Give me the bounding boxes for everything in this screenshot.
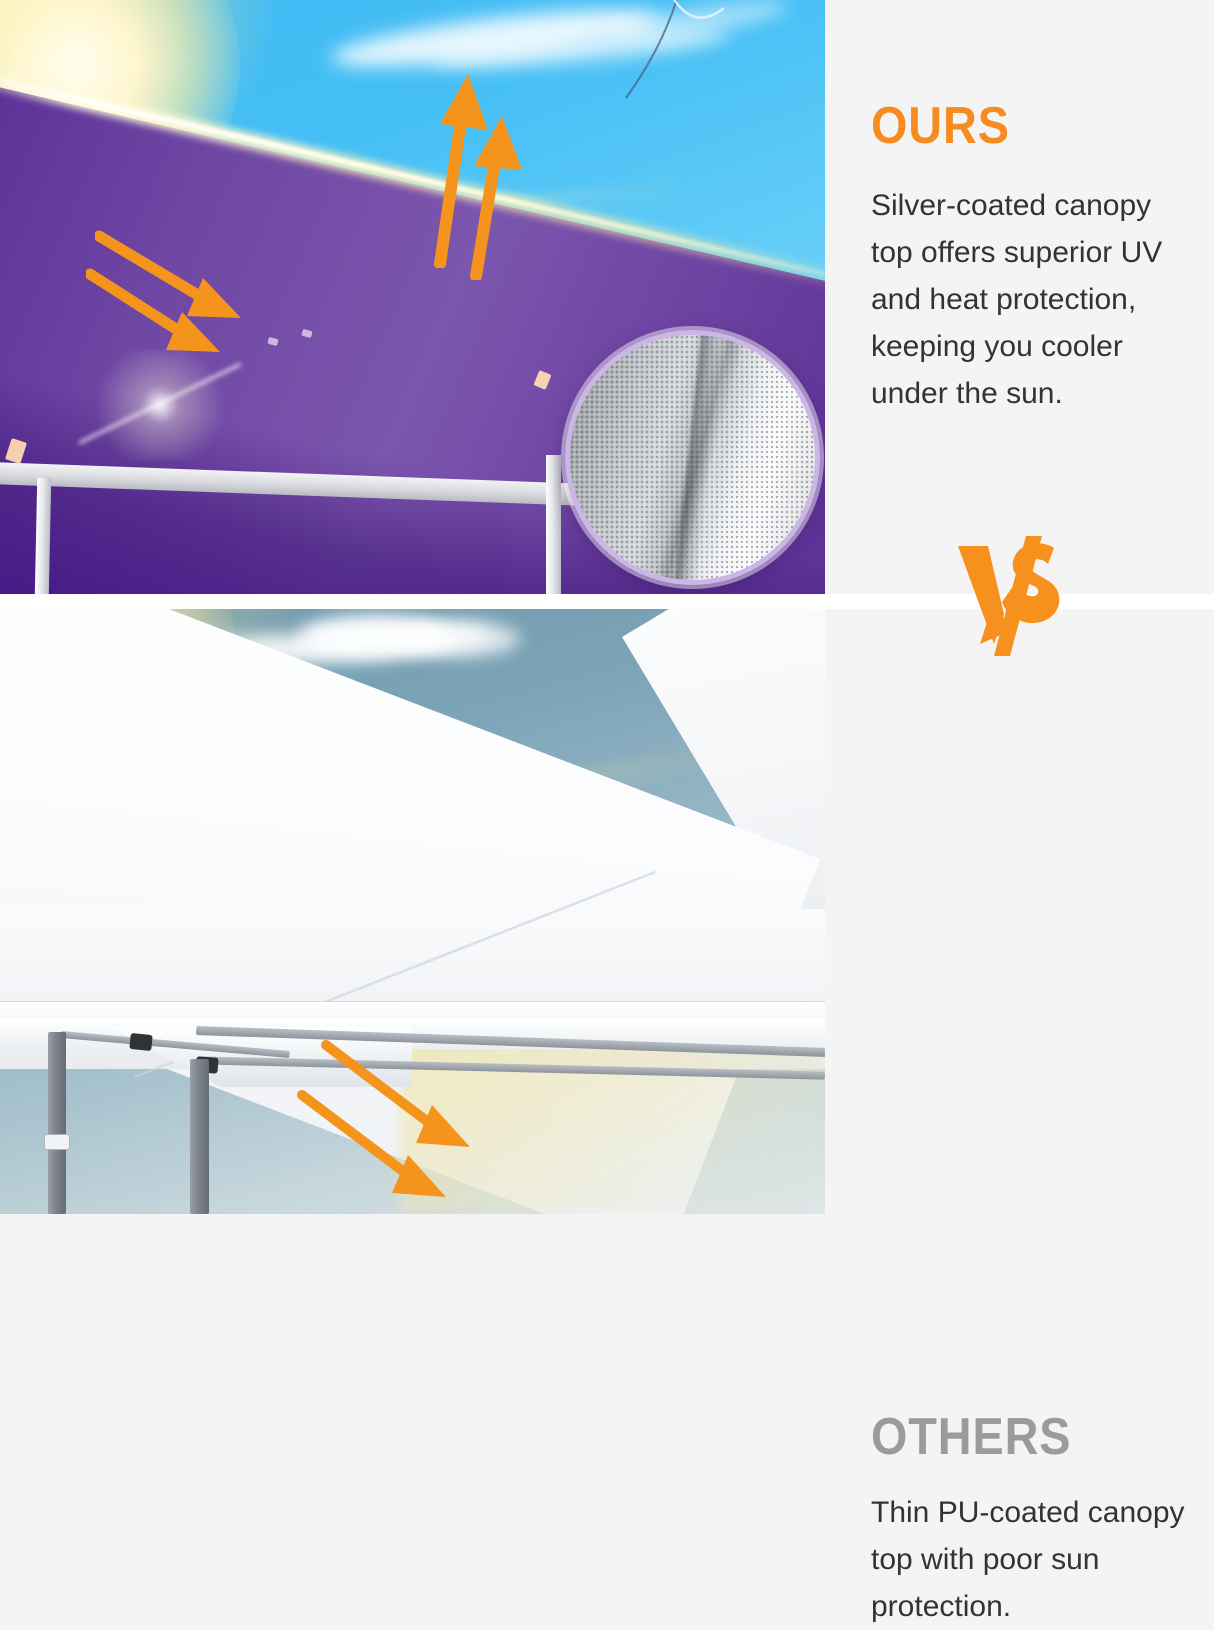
ridge-sparkle (70, 350, 250, 460)
comparison-infographic: OURS Silver-coated canopy top offers sup… (0, 0, 1214, 1214)
others-heading: OTHERS (871, 1411, 1071, 1463)
ours-text-panel: OURS Silver-coated canopy top offers sup… (825, 0, 1214, 594)
others-description: Thin PU-coated canopy top with poor sun … (871, 1489, 1191, 1630)
cloud (400, 621, 520, 657)
canopy-leg (190, 1059, 209, 1214)
canopy-leg (48, 1032, 66, 1214)
ours-photo (0, 0, 825, 594)
canopy-leg (35, 478, 52, 594)
others-text-panel: OTHERS Thin PU-coated canopy top with po… (825, 609, 1214, 1214)
ours-description: Silver-coated canopy top offers superior… (871, 182, 1191, 417)
silver-coating-detail-circle (565, 330, 820, 585)
leg-height-clip (44, 1134, 70, 1150)
ours-heading: OURS (871, 100, 1010, 152)
versus-badge-icon (950, 528, 1080, 656)
frame-joint (129, 1033, 153, 1051)
others-photo (0, 609, 825, 1214)
canopy-leg (546, 455, 561, 594)
